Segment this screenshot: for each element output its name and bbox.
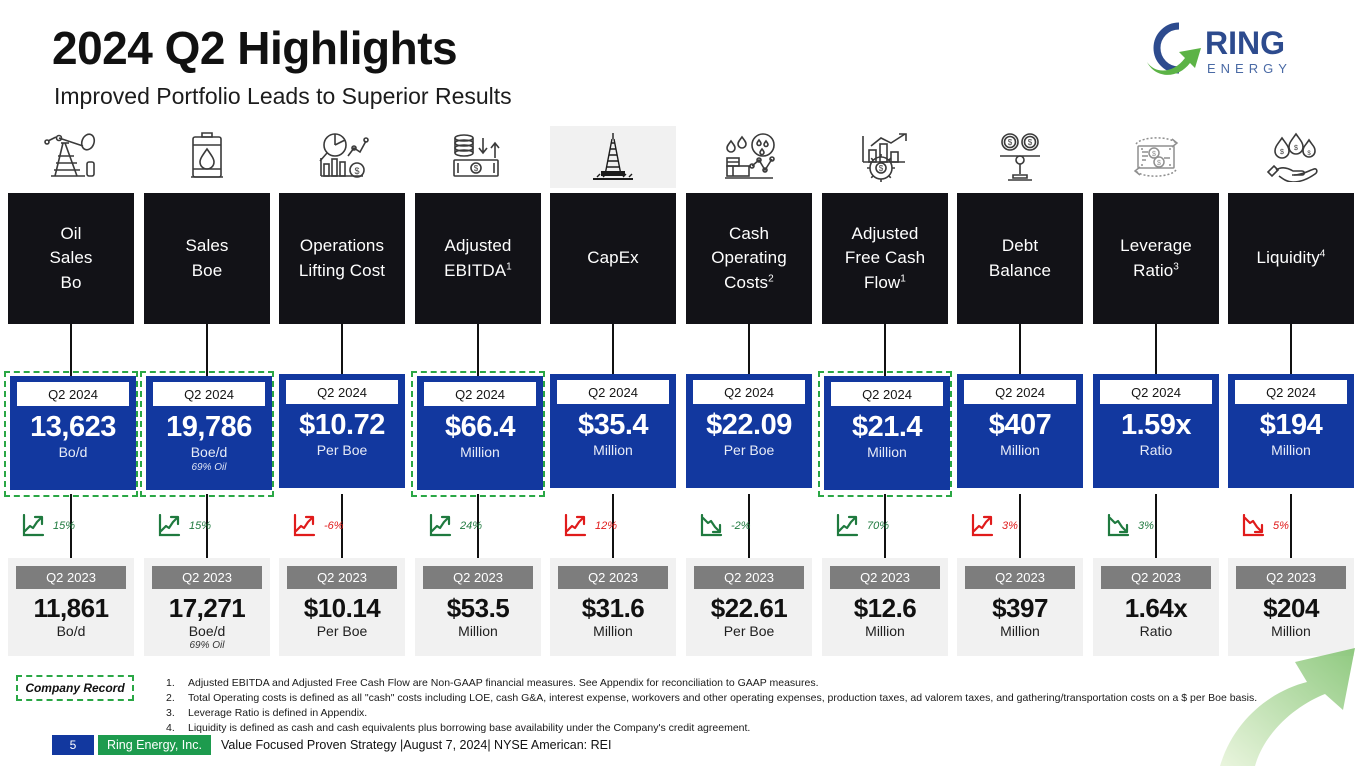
svg-text:$: $ — [879, 164, 884, 173]
current-period-card: Q2 2024 19,786 Boe/d 69% Oil — [140, 371, 274, 497]
current-period-label: Q2 2024 — [557, 380, 669, 404]
svg-text:RING: RING — [1205, 25, 1285, 61]
current-unit: Per Boe — [279, 442, 405, 459]
prior-period-card: Q2 2023 $397 Million — [957, 558, 1083, 656]
period-change: 15% — [144, 511, 270, 541]
metric-label-text: OilSalesBo — [49, 222, 92, 294]
prior-period-label: Q2 2023 — [423, 566, 533, 589]
metric-label: AdjustedFree CashFlow1 — [822, 193, 948, 324]
current-value-box: Q2 2024 $22.09 Per Boe — [686, 374, 812, 488]
footnote-number: 2. — [166, 691, 188, 706]
current-unit: Ratio — [1093, 442, 1219, 459]
period-change: 3% — [1093, 511, 1219, 541]
period-change: 70% — [822, 511, 948, 541]
current-value: $35.4 — [550, 410, 676, 442]
prior-value: $10.14 — [279, 594, 405, 623]
metric-label: LeverageRatio3 — [1093, 193, 1219, 324]
change-percent: -2% — [731, 520, 751, 532]
current-value-box: Q2 2024 $10.72 Per Boe — [279, 374, 405, 488]
cash-stack-arrows-icon: $ — [415, 126, 541, 188]
prior-unit: Bo/d — [8, 623, 134, 640]
current-period-card: Q2 2024 $66.4 Million — [411, 371, 545, 497]
current-period-label: Q2 2024 — [1100, 380, 1212, 404]
metric-label-text: SalesBoe — [185, 234, 228, 282]
prior-value: 11,861 — [8, 594, 134, 623]
current-value-box: Q2 2024 19,786 Boe/d 69% Oil — [146, 376, 272, 490]
current-period-label: Q2 2024 — [17, 382, 129, 406]
footnote-marker: 1 — [900, 273, 906, 284]
page-number-badge: 5 — [52, 735, 94, 755]
current-value: $22.09 — [686, 410, 812, 442]
current-period-card: Q2 2024 1.59x Ratio — [1093, 374, 1219, 494]
current-value-box: Q2 2024 13,623 Bo/d — [10, 376, 136, 490]
metric-label: CashOperatingCosts2 — [686, 193, 812, 324]
footnotes: 1. Adjusted EBITDA and Adjusted Free Cas… — [166, 676, 1356, 736]
footnote-text: Total Operating costs is defined as all … — [188, 691, 1257, 706]
prior-value: 17,271 — [144, 594, 270, 623]
prior-period-card: Q2 2023 $31.6 Million — [550, 558, 676, 656]
trend-arrow-icon — [1242, 514, 1266, 538]
page-title: 2024 Q2 Highlights — [52, 24, 457, 72]
current-period-card: Q2 2024 $194 Million — [1228, 374, 1354, 494]
page-subtitle: Improved Portfolio Leads to Superior Res… — [54, 83, 512, 110]
trend-arrow-icon — [1107, 514, 1131, 538]
current-value-box: Q2 2024 $35.4 Million — [550, 374, 676, 488]
period-change: 5% — [1228, 511, 1354, 541]
pumpjack-icon — [8, 126, 134, 188]
connector-line — [341, 324, 343, 379]
prior-period-label: Q2 2023 — [830, 566, 940, 589]
connector-line — [1019, 324, 1021, 379]
footnote-item: 4. Liquidity is defined as cash and cash… — [166, 721, 1356, 736]
prior-period-card: Q2 2023 17,271 Boe/d 69% Oil — [144, 558, 270, 656]
prior-period-card: Q2 2023 $12.6 Million — [822, 558, 948, 656]
footnote-number: 1. — [166, 676, 188, 691]
prior-value: $53.5 — [415, 594, 541, 623]
prior-unit: Million — [957, 623, 1083, 640]
decorative-green-arrow — [1215, 638, 1365, 768]
metric-label-text: DebtBalance — [989, 234, 1051, 282]
metric-label-text: AdjustedFree CashFlow1 — [845, 222, 925, 294]
change-percent: -6% — [324, 520, 344, 532]
metric-label-text: CapEx — [587, 246, 639, 270]
current-period-label: Q2 2024 — [424, 382, 536, 406]
trend-arrow-icon — [293, 514, 317, 538]
current-value-box: Q2 2024 $21.4 Million — [824, 376, 950, 490]
footnote-item: 3. Leverage Ratio is defined in Appendix… — [166, 706, 1356, 721]
prior-value: 1.64x — [1093, 594, 1219, 623]
svg-text:$: $ — [1152, 151, 1156, 158]
metric-label: OperationsLifting Cost — [279, 193, 405, 324]
svg-text:$: $ — [1280, 149, 1284, 156]
prior-value: $397 — [957, 594, 1083, 623]
current-unit: Per Boe — [686, 442, 812, 459]
current-period-label: Q2 2024 — [153, 382, 265, 406]
current-unit: Million — [550, 442, 676, 459]
current-value: 1.59x — [1093, 410, 1219, 442]
current-value: $407 — [957, 410, 1083, 442]
metric-label-text: LeverageRatio3 — [1120, 234, 1192, 282]
footnote-item: 2. Total Operating costs is defined as a… — [166, 691, 1356, 706]
prior-value: $12.6 — [822, 594, 948, 623]
oil-barrel-icon — [144, 126, 270, 188]
footnote-text: Adjusted EBITDA and Adjusted Free Cash F… — [188, 676, 819, 691]
current-value: $10.72 — [279, 410, 405, 442]
period-change: 12% — [550, 511, 676, 541]
prior-period-card: Q2 2023 1.64x Ratio — [1093, 558, 1219, 656]
prior-period-label: Q2 2023 — [1236, 566, 1346, 589]
period-change: 15% — [8, 511, 134, 541]
metric-label-text: OperationsLifting Cost — [299, 234, 385, 282]
current-value: $66.4 — [417, 412, 543, 444]
footnote-marker: 2 — [768, 273, 774, 284]
metric-label-text: CashOperatingCosts2 — [711, 222, 787, 294]
prior-period-card: Q2 2023 $53.5 Million — [415, 558, 541, 656]
metric-label: CapEx — [550, 193, 676, 324]
current-period-label: Q2 2024 — [1235, 380, 1347, 404]
prior-period-card: Q2 2023 $22.61 Per Boe — [686, 558, 812, 656]
current-unit: Bo/d — [10, 444, 136, 461]
footnote-marker: 4 — [1320, 249, 1326, 260]
period-change: 24% — [415, 511, 541, 541]
current-period-card: Q2 2024 13,623 Bo/d — [4, 371, 138, 497]
prior-period-label: Q2 2023 — [152, 566, 262, 589]
footnote-text: Leverage Ratio is defined in Appendix. — [188, 706, 367, 721]
prior-period-card: Q2 2023 $10.14 Per Boe — [279, 558, 405, 656]
legend-label: Company Record — [25, 681, 124, 695]
metric-label: Liquidity4 — [1228, 193, 1354, 324]
current-period-card: Q2 2024 $35.4 Million — [550, 374, 676, 494]
connector-line — [612, 324, 614, 379]
svg-text:$: $ — [1294, 145, 1298, 152]
svg-text:ENERGY: ENERGY — [1207, 61, 1292, 76]
trend-arrow-icon — [971, 514, 995, 538]
prior-period-label: Q2 2023 — [1101, 566, 1211, 589]
ring-energy-logo: RING ENERGY — [1133, 18, 1329, 80]
drilling-rig-icon — [550, 126, 676, 188]
analytics-magnifier-icon: $ — [279, 126, 405, 188]
metric-label: AdjustedEBITDA1 — [415, 193, 541, 324]
current-period-card: Q2 2024 $21.4 Million — [818, 371, 952, 497]
prior-value: $22.61 — [686, 594, 812, 623]
tanks-chart-icon — [686, 126, 812, 188]
change-percent: 3% — [1002, 520, 1018, 532]
prior-unit: Million — [822, 623, 948, 640]
change-percent: 15% — [53, 520, 75, 532]
current-unit: Boe/d — [146, 444, 272, 461]
prior-unit: Boe/d — [144, 623, 270, 640]
prior-period-label: Q2 2023 — [965, 566, 1075, 589]
current-period-label: Q2 2024 — [964, 380, 1076, 404]
prior-period-card: Q2 2023 11,861 Bo/d — [8, 558, 134, 656]
svg-text:$: $ — [1008, 138, 1013, 147]
current-value-box: Q2 2024 $407 Million — [957, 374, 1083, 488]
metric-label: DebtBalance — [957, 193, 1083, 324]
current-period-label: Q2 2024 — [693, 380, 805, 404]
prior-value: $31.6 — [550, 594, 676, 623]
prior-unit: Million — [415, 623, 541, 640]
current-subnote: 69% Oil — [146, 461, 272, 474]
current-period-card: Q2 2024 $22.09 Per Boe — [686, 374, 812, 494]
change-percent: 3% — [1138, 520, 1154, 532]
trend-arrow-icon — [700, 514, 724, 538]
current-value: 19,786 — [146, 412, 272, 444]
current-value: $194 — [1228, 410, 1354, 442]
change-percent: 12% — [595, 520, 617, 532]
period-change: -6% — [279, 511, 405, 541]
current-period-label: Q2 2024 — [286, 380, 398, 404]
metric-label-text: Liquidity4 — [1257, 246, 1326, 270]
change-percent: 24% — [460, 520, 482, 532]
metric-label-text: AdjustedEBITDA1 — [444, 234, 512, 282]
prior-period-label: Q2 2023 — [694, 566, 804, 589]
company-name-badge: Ring Energy, Inc. — [98, 735, 211, 755]
footnote-item: 1. Adjusted EBITDA and Adjusted Free Cas… — [166, 676, 1356, 691]
prior-unit: Per Boe — [686, 623, 812, 640]
prior-period-label: Q2 2023 — [16, 566, 126, 589]
prior-value: $204 — [1228, 594, 1354, 623]
hand-dollar-drops-icon: $ $ $ — [1228, 126, 1354, 188]
current-unit: Million — [1228, 442, 1354, 459]
prior-unit: Million — [550, 623, 676, 640]
metric-label: SalesBoe — [144, 193, 270, 324]
trend-arrow-icon — [836, 514, 860, 538]
current-unit: Million — [957, 442, 1083, 459]
growth-gear-icon: $ — [822, 126, 948, 188]
balance-scale-coins-icon: $ $ — [957, 126, 1083, 188]
metric-label: OilSalesBo — [8, 193, 134, 324]
footnote-number: 4. — [166, 721, 188, 736]
trend-arrow-icon — [22, 514, 46, 538]
svg-text:$: $ — [474, 164, 479, 173]
current-value-box: Q2 2024 1.59x Ratio — [1093, 374, 1219, 488]
money-exchange-icon: $ $ — [1093, 126, 1219, 188]
prior-period-label: Q2 2023 — [287, 566, 397, 589]
connector-line — [1155, 324, 1157, 379]
prior-unit: Ratio — [1093, 623, 1219, 640]
current-unit: Million — [824, 444, 950, 461]
current-value-box: Q2 2024 $194 Million — [1228, 374, 1354, 488]
change-percent: 70% — [867, 520, 889, 532]
trend-arrow-icon — [158, 514, 182, 538]
footnote-number: 3. — [166, 706, 188, 721]
current-unit: Million — [417, 444, 543, 461]
footnote-marker: 3 — [1173, 261, 1179, 272]
current-period-card: Q2 2024 $10.72 Per Boe — [279, 374, 405, 494]
current-value: 13,623 — [10, 412, 136, 444]
prior-unit: Per Boe — [279, 623, 405, 640]
current-value-box: Q2 2024 $66.4 Million — [417, 376, 543, 490]
svg-text:$: $ — [1157, 160, 1161, 167]
connector-line — [748, 324, 750, 379]
period-change: 3% — [957, 511, 1083, 541]
prior-subnote: 69% Oil — [144, 639, 270, 652]
connector-line — [1290, 324, 1292, 379]
footnote-text: Liquidity is defined as cash and cash eq… — [188, 721, 750, 736]
prior-period-label: Q2 2023 — [558, 566, 668, 589]
svg-text:$: $ — [354, 166, 359, 176]
trend-arrow-icon — [564, 514, 588, 538]
current-value: $21.4 — [824, 412, 950, 444]
change-percent: 15% — [189, 520, 211, 532]
footnote-marker: 1 — [506, 261, 512, 272]
footer-tagline: Value Focused Proven Strategy |August 7,… — [221, 738, 612, 752]
prior-unit: Million — [1228, 623, 1354, 640]
current-period-card: Q2 2024 $407 Million — [957, 374, 1083, 494]
change-percent: 5% — [1273, 520, 1289, 532]
slide-footer: 5 Ring Energy, Inc. Value Focused Proven… — [52, 735, 611, 755]
current-period-label: Q2 2024 — [831, 382, 943, 406]
period-change: -2% — [686, 511, 812, 541]
svg-text:$: $ — [1028, 138, 1033, 147]
trend-arrow-icon — [429, 514, 453, 538]
legend-company-record: Company Record — [16, 675, 134, 701]
